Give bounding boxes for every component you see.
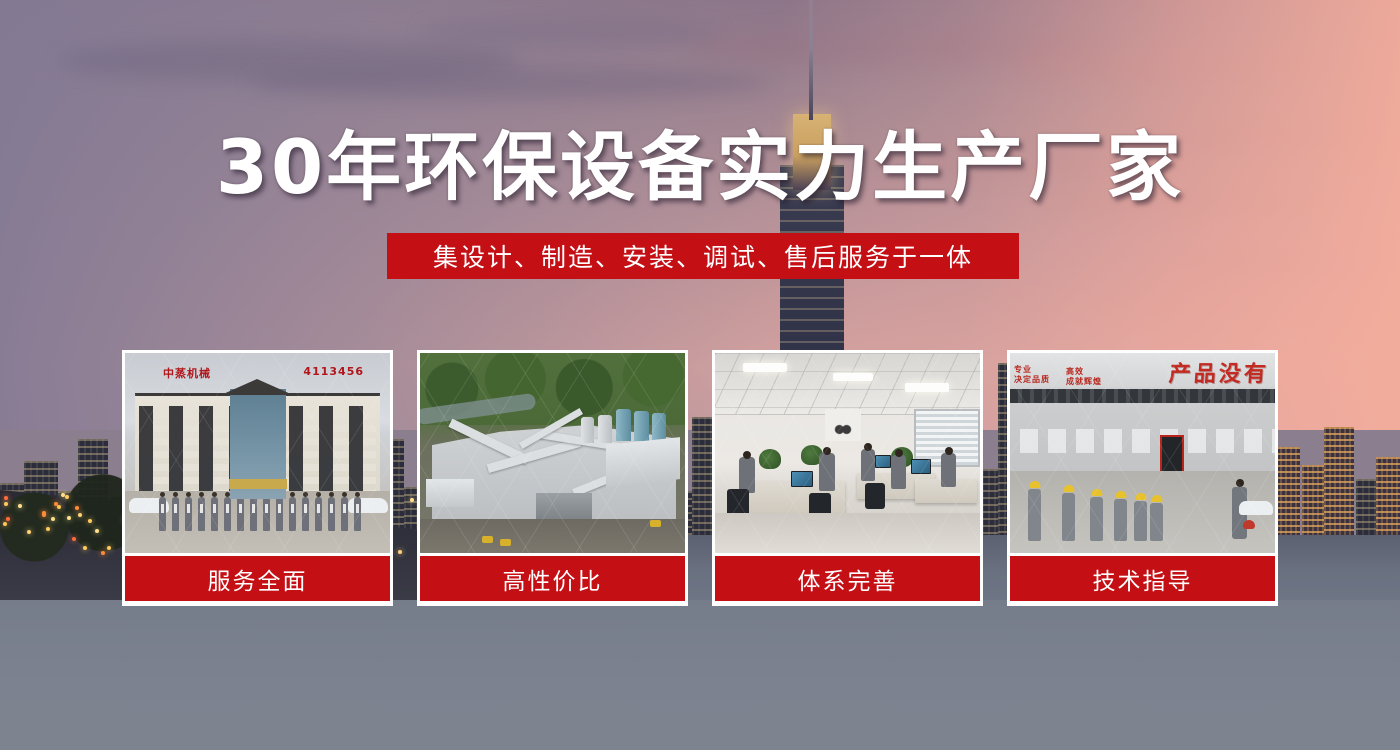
- computer-monitor: [875, 455, 891, 468]
- storage-silo: [616, 409, 631, 441]
- office-worker: [891, 455, 906, 489]
- water-sheen: [0, 600, 1400, 750]
- office-worker: [941, 453, 956, 487]
- shore-light: [3, 522, 7, 526]
- staff-member: [302, 497, 309, 531]
- shore-light: [67, 516, 71, 520]
- staff-member: [237, 497, 244, 531]
- yellow-machine: [500, 539, 511, 546]
- shore-light: [95, 529, 99, 533]
- site-yard: [420, 519, 685, 553]
- computer-monitor: [791, 471, 813, 487]
- wall-poster: [825, 409, 861, 441]
- staff-member: [211, 497, 218, 531]
- factory-worker: [1090, 497, 1103, 541]
- yellow-machine: [482, 536, 493, 543]
- factory-vent-band: [1010, 389, 1275, 403]
- cloud-shape: [420, 18, 720, 48]
- factory-worker: [1028, 489, 1041, 541]
- factory-worker: [1150, 503, 1163, 541]
- staff-member: [289, 497, 296, 531]
- page-title: 30年环保设备实力生产厂家: [0, 128, 1400, 207]
- staff-member: [263, 497, 270, 531]
- shore-light: [42, 513, 46, 517]
- storage-silo: [581, 417, 594, 443]
- red-helmet: [1243, 520, 1255, 529]
- shore-light: [88, 519, 92, 523]
- card-caption: 高性价比: [420, 556, 685, 601]
- tower-spire: [809, 0, 813, 120]
- shore-light: [78, 513, 82, 517]
- building-entrance-canopy: [229, 479, 287, 489]
- factory-door: [1160, 435, 1184, 475]
- subtitle-text: 集设计、制造、安装、调试、售后服务于一体: [433, 238, 973, 274]
- staff-member: [172, 497, 179, 531]
- shore-light: [46, 527, 50, 531]
- card-photo-office-building: 中蒸机械 4113456: [125, 353, 390, 553]
- potted-plant: [759, 449, 781, 469]
- card-photo-plant-aerial: [420, 353, 685, 553]
- staff-member: [276, 497, 283, 531]
- staff-member: [315, 497, 322, 531]
- warehouse-shed: [606, 437, 680, 487]
- card-photo-office-interior: [715, 353, 980, 553]
- office-chair: [865, 483, 885, 509]
- factory-building: 产品没有 专业决定品质 高效成就辉煌: [1010, 353, 1275, 473]
- staff-member: [250, 497, 257, 531]
- factory-window-row: [1010, 429, 1275, 453]
- shore-light: [6, 517, 10, 521]
- skyline-building: [1302, 465, 1326, 535]
- factory-wall-slogan-small: 高效成就辉煌: [1066, 367, 1102, 387]
- card-caption: 技术指导: [1010, 556, 1275, 601]
- shore-light: [54, 502, 58, 506]
- building-company-sign: 中蒸机械: [163, 365, 211, 381]
- shore-light: [72, 537, 76, 541]
- skyline-building: [1324, 427, 1354, 535]
- warehouse-shed: [426, 479, 474, 507]
- ceiling-light-panel: [833, 373, 873, 381]
- ceiling-light-panel: [743, 363, 787, 372]
- skyline-building: [1356, 479, 1378, 535]
- staff-member: [185, 497, 192, 531]
- feature-card[interactable]: 高性价比: [417, 350, 688, 606]
- shore-light: [57, 505, 61, 509]
- subtitle-banner: 集设计、制造、安装、调试、售后服务于一体: [387, 233, 1019, 279]
- warehouse-shed: [536, 493, 592, 519]
- shore-light: [51, 517, 55, 521]
- card-caption: 服务全面: [125, 556, 390, 601]
- factory-worker: [1062, 493, 1075, 541]
- shore-light: [27, 530, 31, 534]
- staff-member: [224, 497, 231, 531]
- shore-light: [18, 504, 22, 508]
- ceiling-light-panel: [905, 383, 949, 392]
- shore-light: [4, 502, 8, 506]
- building-phone-sign: 4113456: [303, 365, 364, 378]
- factory-worker: [1114, 499, 1127, 541]
- shore-light: [83, 546, 87, 550]
- office-floor: [715, 513, 980, 553]
- staff-member: [198, 497, 205, 531]
- factory-worker: [1134, 501, 1147, 541]
- staff-member: [354, 497, 361, 531]
- factory-wall-slogan: 产品没有: [1168, 356, 1270, 388]
- yellow-machine: [650, 520, 661, 527]
- office-worker: [819, 453, 835, 491]
- shore-light: [65, 495, 69, 499]
- building-roof-gable: [221, 379, 293, 395]
- skyline-building: [1376, 457, 1400, 535]
- storage-silo: [634, 411, 649, 441]
- staff-member: [341, 497, 348, 531]
- promo-banner: 30年环保设备实力生产厂家 集设计、制造、安装、调试、售后服务于一体 中蒸机械 …: [0, 0, 1400, 750]
- storage-silo: [652, 413, 666, 441]
- feature-card-row: 中蒸机械 4113456 服务全面: [122, 350, 1278, 606]
- office-worker: [861, 449, 875, 481]
- computer-monitor: [911, 459, 931, 474]
- feature-card[interactable]: 产品没有 专业决定品质 高效成就辉煌 技术指导: [1007, 350, 1278, 606]
- feature-card[interactable]: 体系完善: [712, 350, 983, 606]
- shore-light: [107, 546, 111, 550]
- staff-member: [328, 497, 335, 531]
- storage-silo: [598, 415, 612, 443]
- card-caption: 体系完善: [715, 556, 980, 601]
- shore-light: [75, 506, 79, 510]
- office-worker: [739, 457, 755, 493]
- shore-light: [101, 551, 105, 555]
- parked-car: [1239, 501, 1273, 515]
- cloud-shape: [250, 66, 770, 100]
- staff-member: [159, 497, 166, 531]
- shore-light: [4, 496, 8, 500]
- card-photo-factory-training: 产品没有 专业决定品质 高效成就辉煌: [1010, 353, 1275, 553]
- feature-card[interactable]: 中蒸机械 4113456 服务全面: [122, 350, 393, 606]
- factory-wall-slogan-small: 专业决定品质: [1014, 365, 1050, 385]
